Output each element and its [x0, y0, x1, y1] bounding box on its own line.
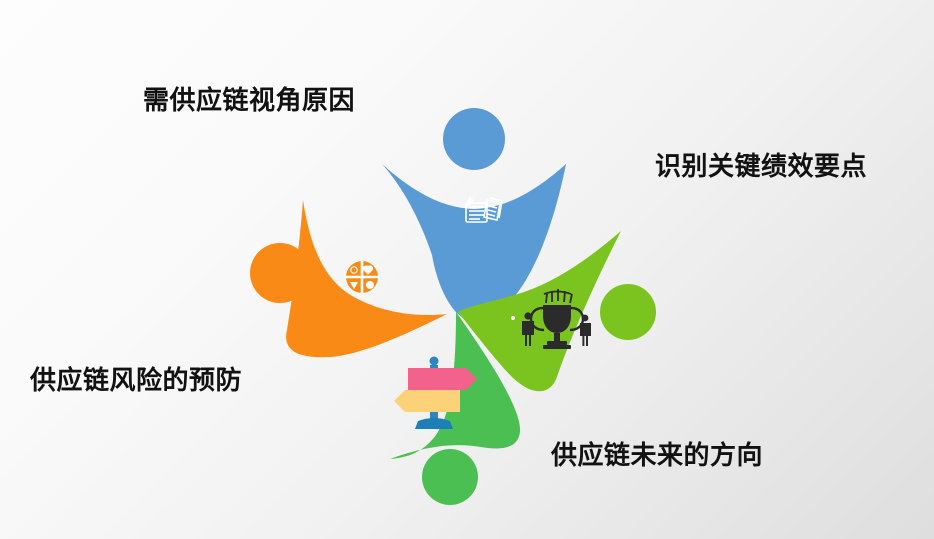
label-supply-chain-future-direction: 供应链未来的方向: [551, 441, 763, 470]
pinwheel-diagram: [0, 0, 934, 539]
petal-orange[interactable]: [250, 200, 447, 357]
label-identify-key-performance-points: 识别关键绩效要点: [655, 152, 867, 181]
petal-blue-head: [443, 108, 505, 170]
petal-lime-head: [600, 284, 656, 340]
slide-canvas: 需供应链视角原因 识别关键绩效要点 供应链风险的预防 供应链未来的方向: [0, 0, 934, 539]
label-supply-chain-perspective-reason: 需供应链视角原因: [143, 86, 355, 115]
pie-quadrant-icon: [345, 260, 379, 294]
petal-green-head: [422, 449, 478, 505]
label-supply-chain-risk-prevention: 供应链风险的预防: [30, 366, 242, 395]
